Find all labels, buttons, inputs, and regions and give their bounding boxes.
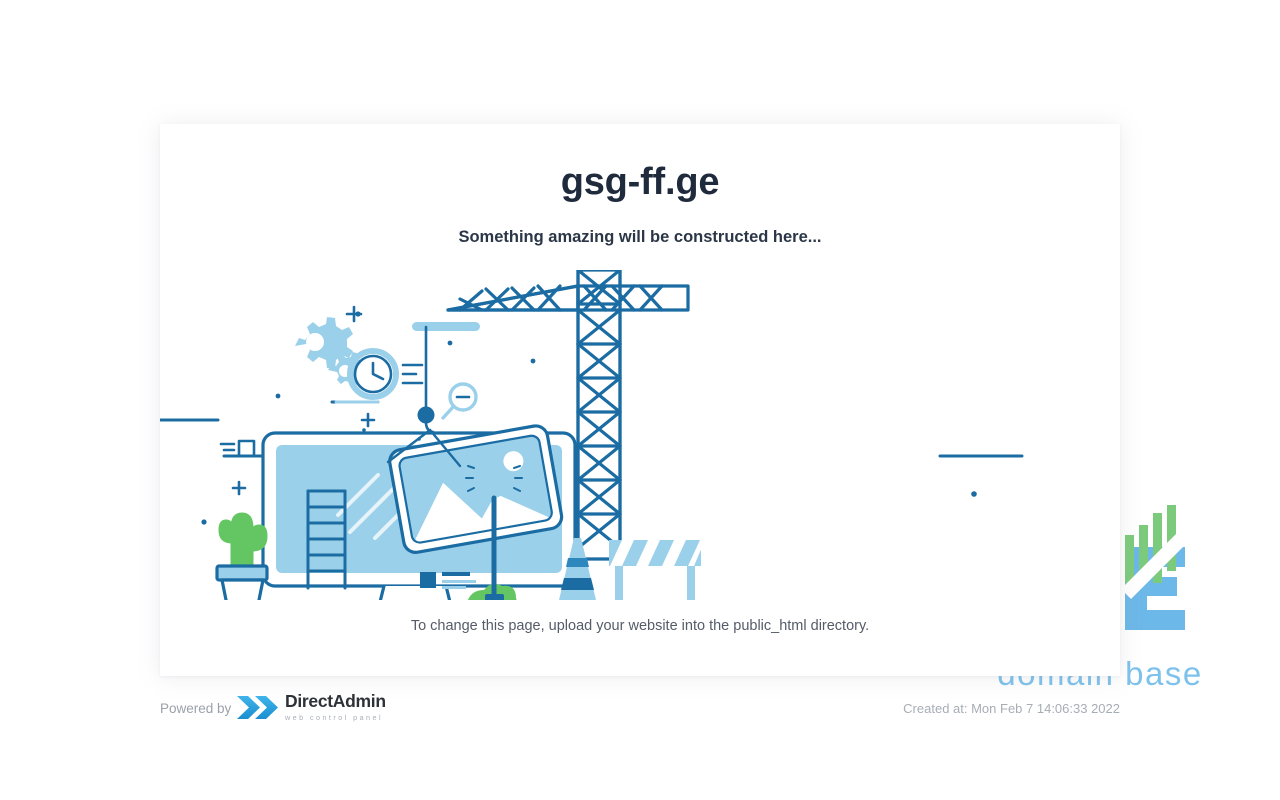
footer-bar: Powered by DirectAdmin web control panel…	[160, 690, 1120, 730]
list-icon	[221, 441, 254, 456]
directadmin-chevron-icon	[236, 694, 278, 721]
under-construction-page: domain base gsg-ff.ge Something amazing …	[0, 0, 1280, 800]
clock-icon	[350, 351, 422, 397]
upload-instruction: To change this page, upload your website…	[160, 618, 1120, 634]
directadmin-name: DirectAdmin	[285, 693, 386, 711]
created-at-label: Created at: Mon Feb 7 14:06:33 2022	[903, 701, 1120, 716]
cactus-icon	[217, 514, 267, 600]
powered-by-label: Powered by	[160, 701, 231, 716]
crane-trolley	[412, 322, 480, 331]
directadmin-logo[interactable]: DirectAdmin web control panel	[236, 690, 386, 724]
directadmin-tagline: web control panel	[285, 714, 386, 721]
under-construction-illustration	[160, 270, 1120, 600]
page-title: gsg-ff.ge	[160, 124, 1120, 206]
directadmin-wordmark: DirectAdmin web control panel	[285, 693, 386, 721]
construction-scene-svg	[160, 270, 1120, 600]
main-card: gsg-ff.ge Something amazing will be cons…	[160, 124, 1120, 676]
magnifier-icon	[443, 384, 476, 418]
road-barrier-icon	[609, 540, 705, 600]
page-subtitle: Something amazing will be constructed he…	[160, 206, 1120, 248]
